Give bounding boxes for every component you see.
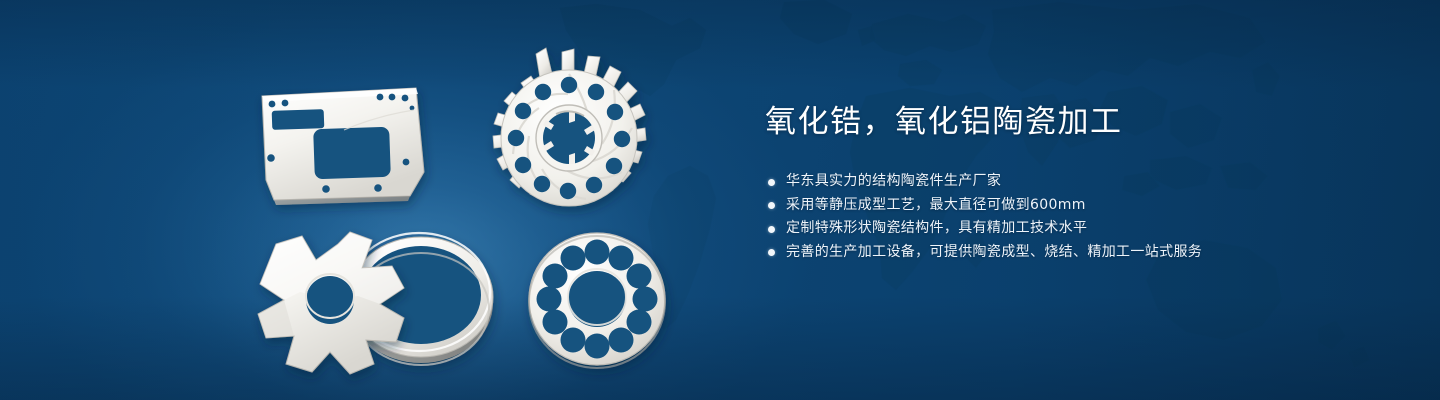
feature-item-2: 采用等静压成型工艺，最大直径可做到600mm: [765, 194, 1365, 218]
product-ceramic-mounting-plate: [262, 88, 424, 205]
product-image-cluster: [0, 0, 720, 400]
feature-item-4: 完善的生产加工设备，可提供陶瓷成型、烧结、精加工一站式服务: [765, 241, 1365, 265]
feature-item-label: 采用等静压成型工艺，最大直径可做到600mm: [786, 197, 1086, 213]
banner-copy: 氧化锆，氧化铝陶瓷加工 华东具实力的结构陶瓷件生产厂家 采用等静压成型工艺，最大…: [765, 100, 1365, 264]
bullet-dot-icon: [768, 179, 775, 186]
feature-item-label: 华东具实力的结构陶瓷件生产厂家: [786, 173, 1001, 189]
product-ceramic-impeller: [493, 48, 646, 206]
feature-item-1: 华东具实力的结构陶瓷件生产厂家: [765, 170, 1365, 194]
product-banner: 氧化锆，氧化铝陶瓷加工 华东具实力的结构陶瓷件生产厂家 采用等静压成型工艺，最大…: [0, 0, 1440, 400]
feature-list: 华东具实力的结构陶瓷件生产厂家 采用等静压成型工艺，最大直径可做到600mm 定…: [765, 170, 1365, 264]
banner-headline: 氧化锆，氧化铝陶瓷加工: [765, 100, 1365, 144]
feature-item-3: 定制特殊形状陶瓷结构件，具有精加工技术水平: [765, 217, 1365, 241]
bullet-dot-icon: [768, 249, 775, 256]
feature-item-label: 定制特殊形状陶瓷结构件，具有精加工技术水平: [786, 220, 1087, 236]
feature-item-label: 完善的生产加工设备，可提供陶瓷成型、烧结、精加工一站式服务: [786, 244, 1202, 260]
bullet-dot-icon: [768, 226, 775, 233]
product-ceramic-hole-ring-disc: [529, 233, 665, 368]
bullet-dot-icon: [768, 202, 775, 209]
